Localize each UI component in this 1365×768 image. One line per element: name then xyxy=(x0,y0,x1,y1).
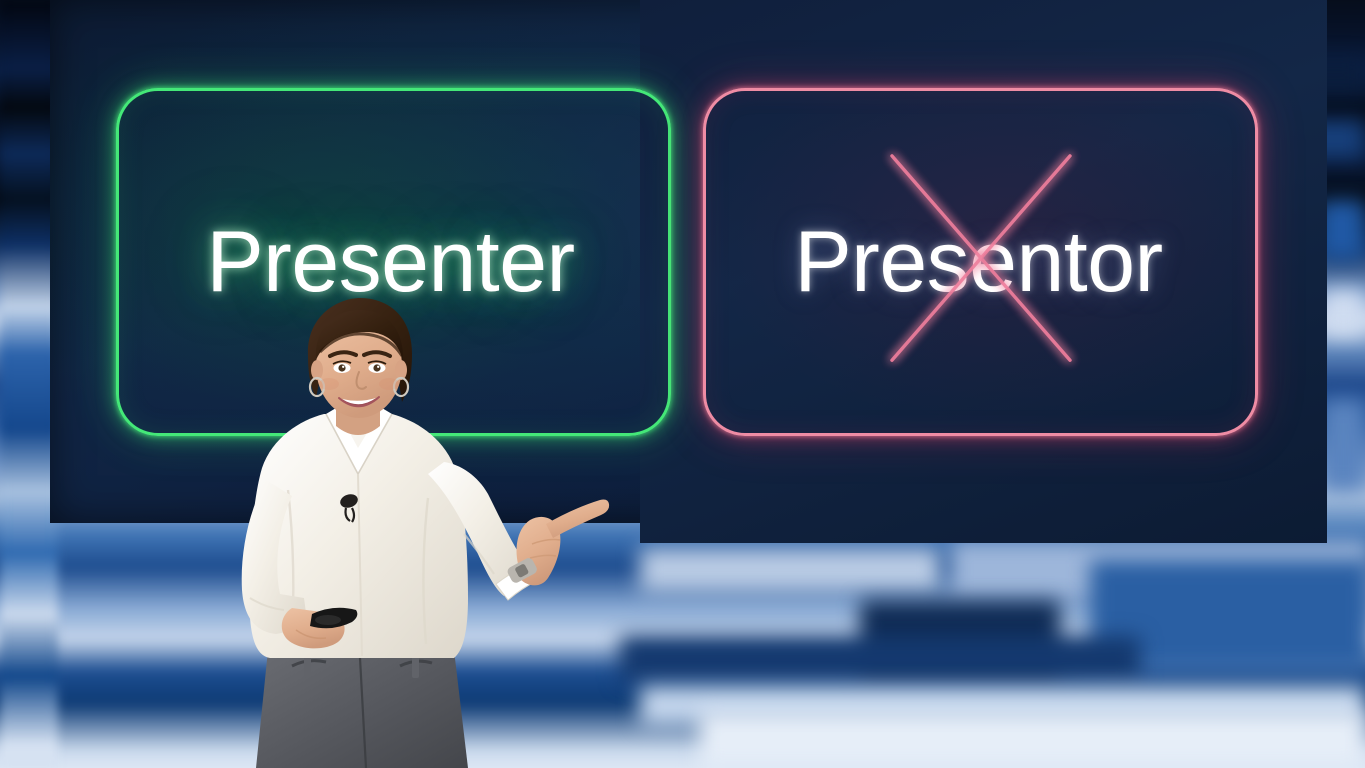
background-block-11 xyxy=(1322,290,1365,336)
background-block-7 xyxy=(700,712,1365,768)
background-block-1 xyxy=(640,548,940,592)
card-incorrect-label: Presentor xyxy=(706,219,1255,305)
card-correct-label: Presenter xyxy=(119,219,668,305)
slide-scene: Presenter Presentor xyxy=(0,0,1365,768)
presenter-head xyxy=(308,298,412,418)
background-block-5 xyxy=(620,636,1140,682)
card-incorrect-presentor[interactable]: Presentor xyxy=(703,88,1258,436)
background-block-12 xyxy=(1322,400,1365,490)
presenter-figure xyxy=(196,298,626,768)
presenter-skirt xyxy=(256,650,468,768)
